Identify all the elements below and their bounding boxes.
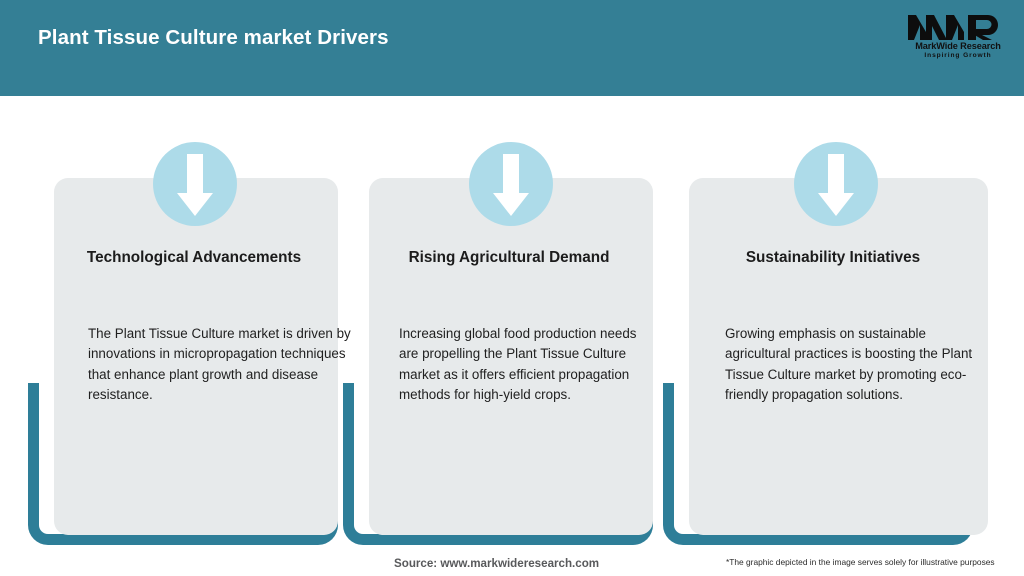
- down-arrow-icon: [153, 142, 237, 226]
- card-title-1: Technological Advancements: [28, 249, 338, 267]
- markwide-research-logo: MarkWide Research Inspiring Growth: [906, 12, 1010, 64]
- page-title: Plant Tissue Culture market Drivers: [38, 26, 389, 50]
- card-body-2: Increasing global food production needs …: [399, 324, 659, 405]
- logo-tagline: Inspiring Growth: [906, 52, 1010, 59]
- card-title-2: Rising Agricultural Demand: [343, 249, 653, 267]
- logo-company-name: MarkWide Research: [906, 41, 1010, 51]
- driver-card-2: Rising Agricultural Demand Increasing gl…: [343, 96, 653, 536]
- footer-source: Source: www.markwideresearch.com: [394, 557, 599, 570]
- driver-card-3: Sustainability Initiatives Growing empha…: [663, 96, 973, 536]
- card-title-3: Sustainability Initiatives: [663, 249, 973, 267]
- card-body-1: The Plant Tissue Culture market is drive…: [88, 324, 360, 405]
- down-arrow-icon: [469, 142, 553, 226]
- mwr-monogram-icon: [906, 12, 1010, 42]
- footer-disclaimer: *The graphic depicted in the image serve…: [726, 557, 995, 567]
- down-arrow-icon: [794, 142, 878, 226]
- drivers-card-row: Technological Advancements The Plant Tis…: [0, 96, 1024, 536]
- driver-card-1: Technological Advancements The Plant Tis…: [28, 96, 338, 536]
- page-header: Plant Tissue Culture market Drivers Mark…: [0, 0, 1024, 96]
- card-body-3: Growing emphasis on sustainable agricult…: [725, 324, 975, 405]
